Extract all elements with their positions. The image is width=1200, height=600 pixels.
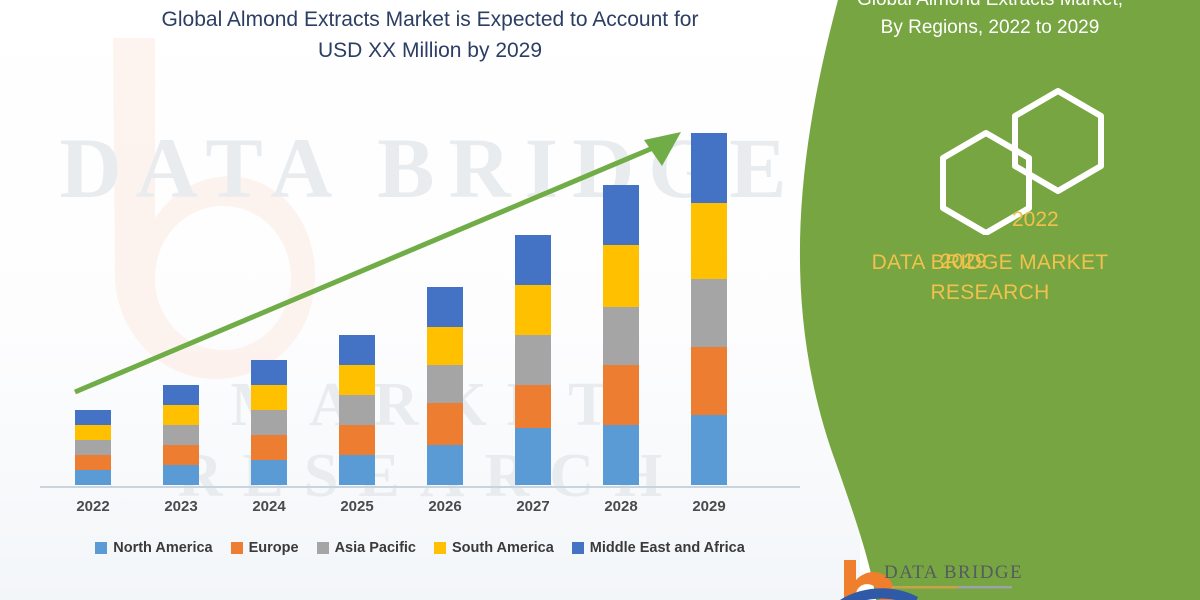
bar-segment-europe[interactable] (603, 365, 639, 425)
bar-segment-asia-pacific[interactable] (603, 307, 639, 365)
legend-item-europe[interactable]: Europe (231, 540, 299, 556)
bar-segment-south-america[interactable] (427, 327, 463, 365)
legend-item-south-america[interactable]: South America (434, 540, 554, 556)
bar-segment-middle-east-and-africa[interactable] (251, 360, 287, 385)
chart-panel: DATA BRIDGE MARKET RESEARCH Global Almon… (0, 0, 860, 600)
x-axis-label-2026: 2026 (410, 498, 480, 515)
bar-2027[interactable] (515, 235, 551, 485)
bar-segment-south-america[interactable] (515, 285, 551, 335)
brand-line-2: RESEARCH (930, 281, 1049, 304)
bar-segment-europe[interactable] (427, 403, 463, 445)
hexagon-group: 2022 2029 (820, 85, 1160, 235)
x-axis-label-2029: 2029 (674, 498, 744, 515)
bar-segment-middle-east-and-africa[interactable] (427, 287, 463, 327)
branding-panel: Global Almond Extracts Market, By Region… (780, 0, 1200, 600)
plot-area: 20222023202420252026202720282029 (0, 0, 860, 600)
bar-2023[interactable] (163, 385, 199, 485)
x-axis-label-2025: 2025 (322, 498, 392, 515)
chart-legend: North AmericaEuropeAsia PacificSouth Ame… (40, 540, 800, 556)
bar-segment-europe[interactable] (251, 435, 287, 460)
legend-label: Europe (249, 540, 299, 556)
branding-heading-line-2: By Regions, 2022 to 2029 (881, 17, 1100, 38)
legend-label: Middle East and Africa (590, 540, 745, 556)
legend-label: South America (452, 540, 554, 556)
legend-label: North America (113, 540, 212, 556)
legend-swatch-icon (572, 542, 584, 554)
bar-segment-south-america[interactable] (251, 385, 287, 410)
hexagon-icons (820, 85, 1160, 235)
bar-segment-asia-pacific[interactable] (427, 365, 463, 403)
bar-segment-asia-pacific[interactable] (691, 279, 727, 347)
bar-segment-middle-east-and-africa[interactable] (75, 410, 111, 425)
bar-segment-north-america[interactable] (339, 455, 375, 485)
legend-swatch-icon (231, 542, 243, 554)
bar-segment-north-america[interactable] (515, 428, 551, 485)
bar-segment-south-america[interactable] (339, 365, 375, 395)
bar-segment-south-america[interactable] (603, 245, 639, 307)
bar-segment-europe[interactable] (515, 385, 551, 428)
hexagon-2022-label: 2022 (1012, 208, 1059, 232)
bar-segment-north-america[interactable] (163, 465, 199, 485)
legend-item-middle-east-and-africa[interactable]: Middle East and Africa (572, 540, 745, 556)
x-axis-label-2022: 2022 (58, 498, 128, 515)
bar-segment-asia-pacific[interactable] (163, 425, 199, 445)
legend-item-north-america[interactable]: North America (95, 540, 212, 556)
bar-segment-north-america[interactable] (691, 415, 727, 485)
bar-2028[interactable] (603, 185, 639, 485)
bar-2029[interactable] (691, 133, 727, 485)
bar-segment-middle-east-and-africa[interactable] (339, 335, 375, 365)
x-axis-label-2027: 2027 (498, 498, 568, 515)
bar-segment-south-america[interactable] (691, 203, 727, 279)
legend-swatch-icon (434, 542, 446, 554)
branding-heading-line-1: Global Almond Extracts Market, (857, 0, 1123, 10)
bar-segment-north-america[interactable] (603, 425, 639, 485)
bar-segment-asia-pacific[interactable] (75, 440, 111, 455)
bar-segment-south-america[interactable] (75, 425, 111, 440)
brand-name: DATA BRIDGE MARKET RESEARCH (800, 248, 1180, 308)
legend-swatch-icon (95, 542, 107, 554)
bar-segment-north-america[interactable] (75, 470, 111, 485)
infographic-canvas: DATA BRIDGE MARKET RESEARCH Global Almon… (0, 0, 1200, 600)
brand-line-1: DATA BRIDGE MARKET (872, 251, 1109, 274)
x-axis-label-2024: 2024 (234, 498, 304, 515)
x-axis-label-2028: 2028 (586, 498, 656, 515)
bar-segment-middle-east-and-africa[interactable] (163, 385, 199, 405)
bar-segment-asia-pacific[interactable] (251, 410, 287, 435)
bar-segment-europe[interactable] (339, 425, 375, 455)
branding-heading: Global Almond Extracts Market, By Region… (800, 0, 1180, 42)
legend-swatch-icon (317, 542, 329, 554)
legend-item-asia-pacific[interactable]: Asia Pacific (317, 540, 416, 556)
bar-segment-asia-pacific[interactable] (515, 335, 551, 385)
bar-segment-middle-east-and-africa[interactable] (691, 133, 727, 203)
bar-segment-north-america[interactable] (427, 445, 463, 485)
bar-segment-europe[interactable] (163, 445, 199, 465)
bar-segment-europe[interactable] (691, 347, 727, 415)
bar-segment-north-america[interactable] (251, 460, 287, 485)
footer-logo-text: DATA BRIDGE (884, 562, 1023, 584)
bar-2024[interactable] (251, 360, 287, 485)
bar-2025[interactable] (339, 335, 375, 485)
x-axis-label-2023: 2023 (146, 498, 216, 515)
bar-segment-asia-pacific[interactable] (339, 395, 375, 425)
bar-2026[interactable] (427, 287, 463, 485)
bar-segment-middle-east-and-africa[interactable] (515, 235, 551, 285)
legend-label: Asia Pacific (335, 540, 416, 556)
bar-2022[interactable] (75, 410, 111, 485)
bar-segment-middle-east-and-africa[interactable] (603, 185, 639, 245)
bar-segment-south-america[interactable] (163, 405, 199, 425)
bar-segment-europe[interactable] (75, 455, 111, 470)
